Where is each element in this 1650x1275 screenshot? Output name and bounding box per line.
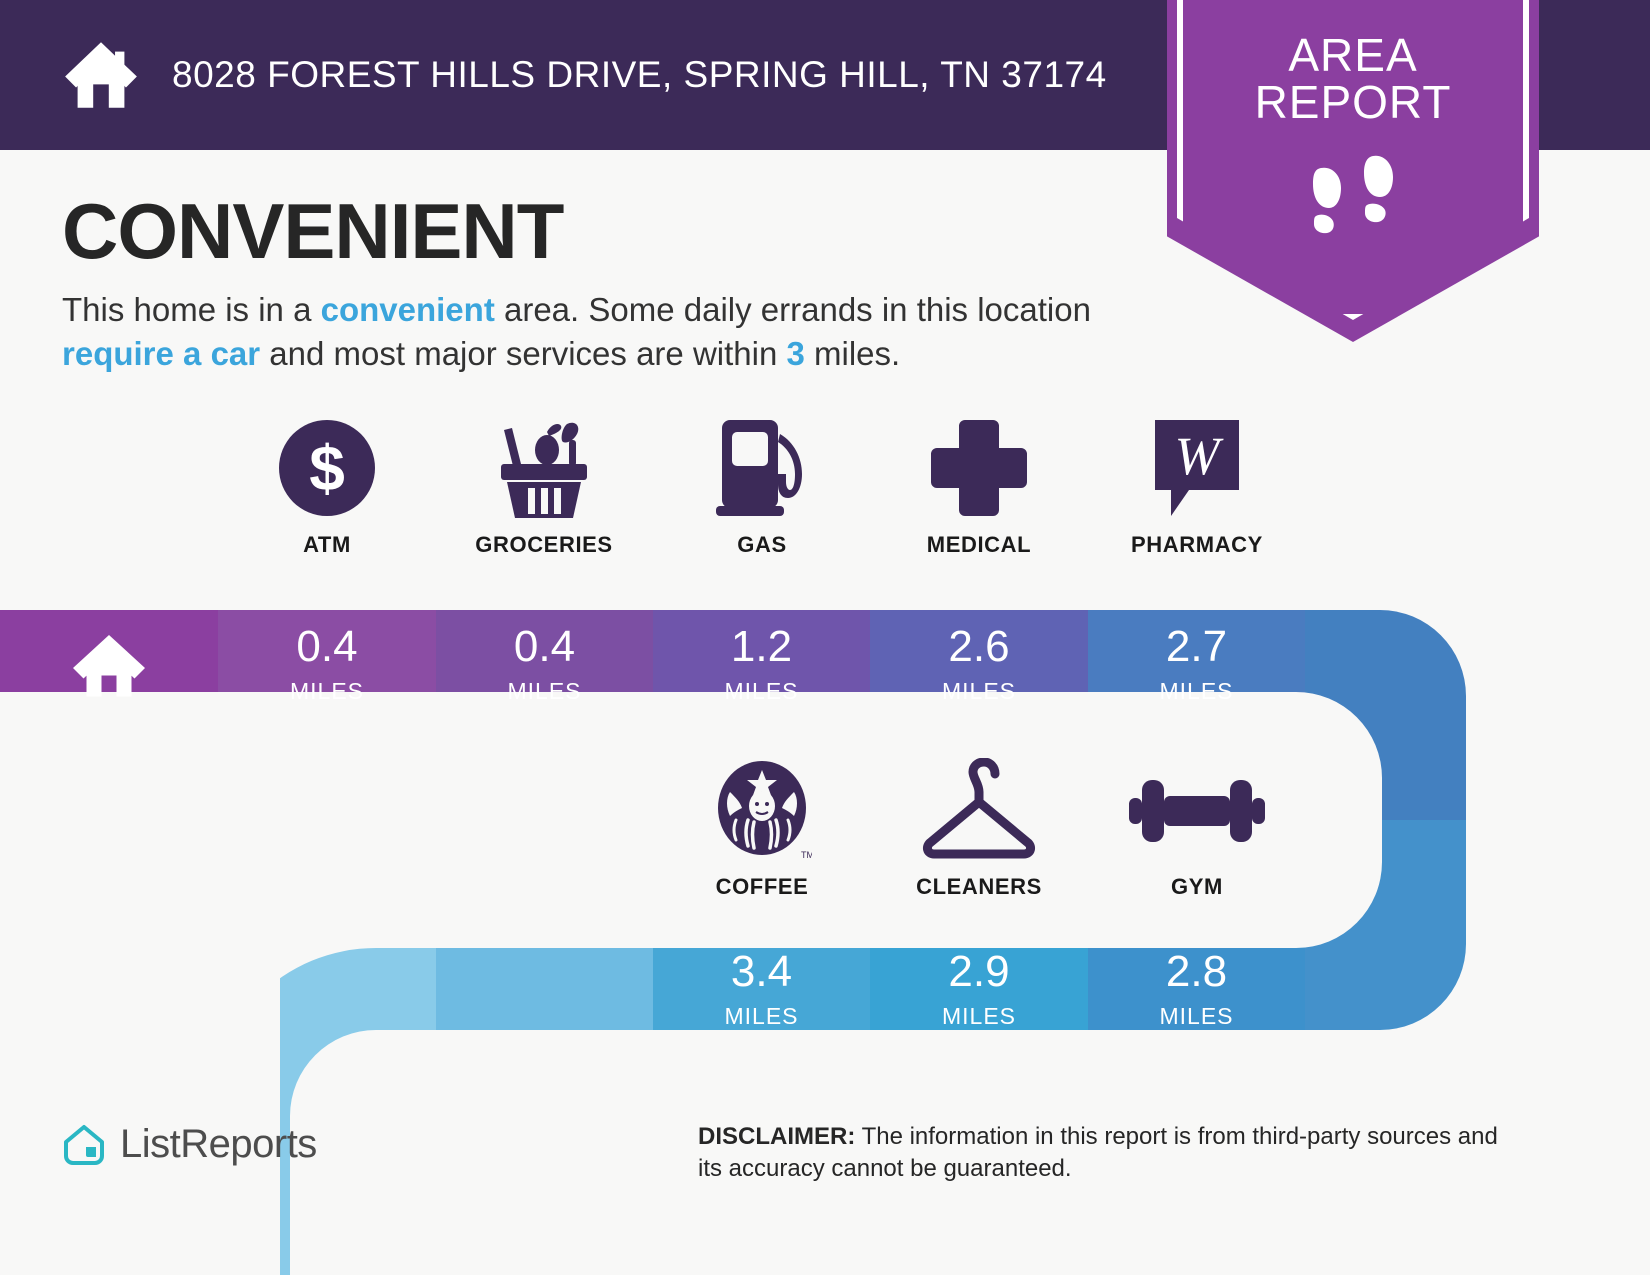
disclaimer-label: DISCLAIMER: — [698, 1123, 855, 1150]
distance-unit-gym: MILES — [1159, 1003, 1233, 1030]
distance-value-coffee: 3.4 — [731, 950, 792, 994]
snake-elbow-top — [1305, 600, 1485, 820]
distance-value-groceries: 0.4 — [514, 625, 575, 669]
distance-unit-atm: MILES — [290, 678, 364, 705]
snake-elbow-bottom — [1305, 820, 1485, 1040]
distance-pharmacy: 2.7 MILES — [1088, 610, 1305, 720]
listreports-logo[interactable]: ListReports — [62, 1122, 317, 1167]
distance-unit-pharmacy: MILES — [1159, 678, 1233, 705]
disclaimer: DISCLAIMER: The information in this repo… — [698, 1121, 1518, 1186]
distance-value-medical: 2.6 — [948, 625, 1009, 669]
distance-value-gas: 1.2 — [731, 625, 792, 669]
distance-unit-cleaners: MILES — [942, 1003, 1016, 1030]
home-icon — [71, 632, 147, 698]
badge-title: AREA REPORT — [1167, 32, 1539, 127]
distance-medical: 2.6 MILES — [870, 610, 1088, 720]
distance-value-pharmacy: 2.7 — [1166, 625, 1227, 669]
listreports-house-icon — [62, 1123, 106, 1167]
distance-unit-gas: MILES — [724, 678, 798, 705]
snake-home-icon-cell — [0, 610, 218, 720]
snake-seg-blank-2 — [436, 940, 653, 1040]
distance-value-gym: 2.8 — [1166, 950, 1227, 994]
distance-coffee: 3.4 MILES — [653, 940, 870, 1040]
snake-tail-light — [280, 940, 436, 1275]
distance-cleaners: 2.9 MILES — [870, 940, 1088, 1040]
distance-atm: 0.4 MILES — [218, 610, 436, 720]
footsteps-icon — [1303, 152, 1403, 244]
distance-unit-coffee: MILES — [724, 1003, 798, 1030]
distance-value-atm: 0.4 — [296, 625, 357, 669]
listreports-wordmark: ListReports — [120, 1122, 317, 1167]
distance-unit-medical: MILES — [942, 678, 1016, 705]
distance-gym: 2.8 MILES — [1088, 940, 1305, 1040]
distance-gas: 1.2 MILES — [653, 610, 870, 720]
distance-value-cleaners: 2.9 — [948, 950, 1009, 994]
distance-unit-groceries: MILES — [507, 678, 581, 705]
distance-groceries: 0.4 MILES — [436, 610, 653, 720]
area-report-infographic: 8028 FOREST HILLS DRIVE, SPRING HILL, TN… — [0, 0, 1650, 1275]
badge-line-1: AREA — [1167, 32, 1539, 79]
badge-line-2: REPORT — [1167, 79, 1539, 126]
